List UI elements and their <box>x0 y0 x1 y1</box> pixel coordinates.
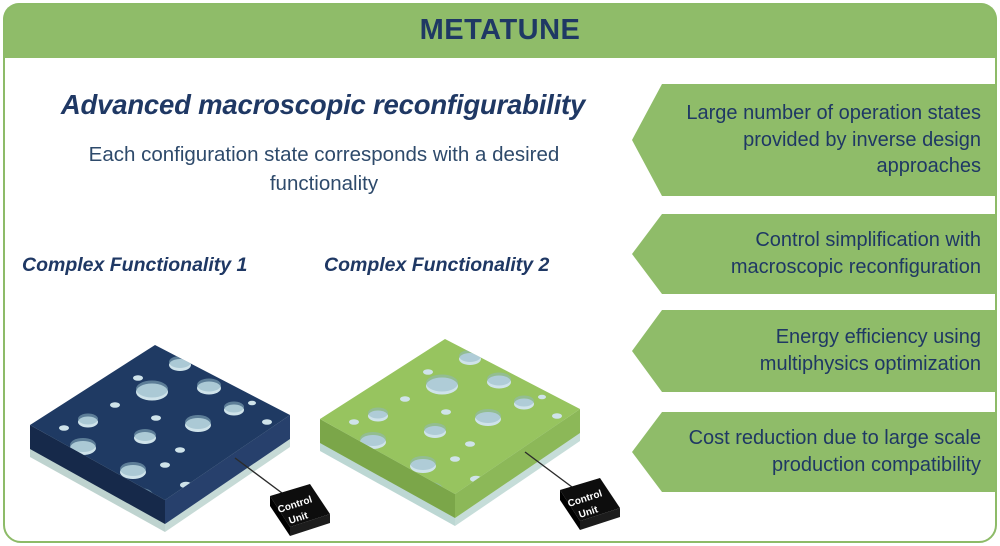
benefit-banner-4[interactable]: Cost reduction due to large scale produc… <box>632 412 997 492</box>
control-unit-chip: Control Unit <box>560 478 620 530</box>
subheadline: Each configuration state corresponds wit… <box>54 140 594 198</box>
benefit-banner-1[interactable]: Large number of operation states provide… <box>632 84 997 196</box>
functionality-label-2: Complex Functionality 2 <box>324 254 549 277</box>
metasurface-diagram-1: Control Unit <box>20 300 330 540</box>
benefit-banner-1-text: Large number of operation states provide… <box>672 100 981 180</box>
left-content-column: Advanced macroscopic reconfigurability E… <box>14 62 632 540</box>
benefit-banner-2[interactable]: Control simplification with macroscopic … <box>632 214 997 294</box>
benefit-banner-3[interactable]: Energy efficiency using multiphysics opt… <box>632 310 997 392</box>
benefit-banner-3-text: Energy efficiency using multiphysics opt… <box>672 324 981 377</box>
benefit-banner-4-text: Cost reduction due to large scale produc… <box>672 425 981 478</box>
metasurface-diagram-2: Control Unit <box>310 294 640 534</box>
metasurface-slab-blue-svg: Control Unit <box>20 300 330 540</box>
header-bar: METATUNE <box>3 3 997 58</box>
headline: Advanced macroscopic reconfigurability <box>14 89 632 121</box>
metasurface-slab-green-svg: Control Unit <box>310 294 640 534</box>
benefit-banner-2-text: Control simplification with macroscopic … <box>672 227 981 280</box>
functionality-label-1: Complex Functionality 1 <box>22 254 247 277</box>
page-title: METATUNE <box>420 14 581 47</box>
benefits-banner-list: Large number of operation states provide… <box>632 62 997 540</box>
poster-root: METATUNE Advanced macroscopic reconfigur… <box>0 0 1000 546</box>
